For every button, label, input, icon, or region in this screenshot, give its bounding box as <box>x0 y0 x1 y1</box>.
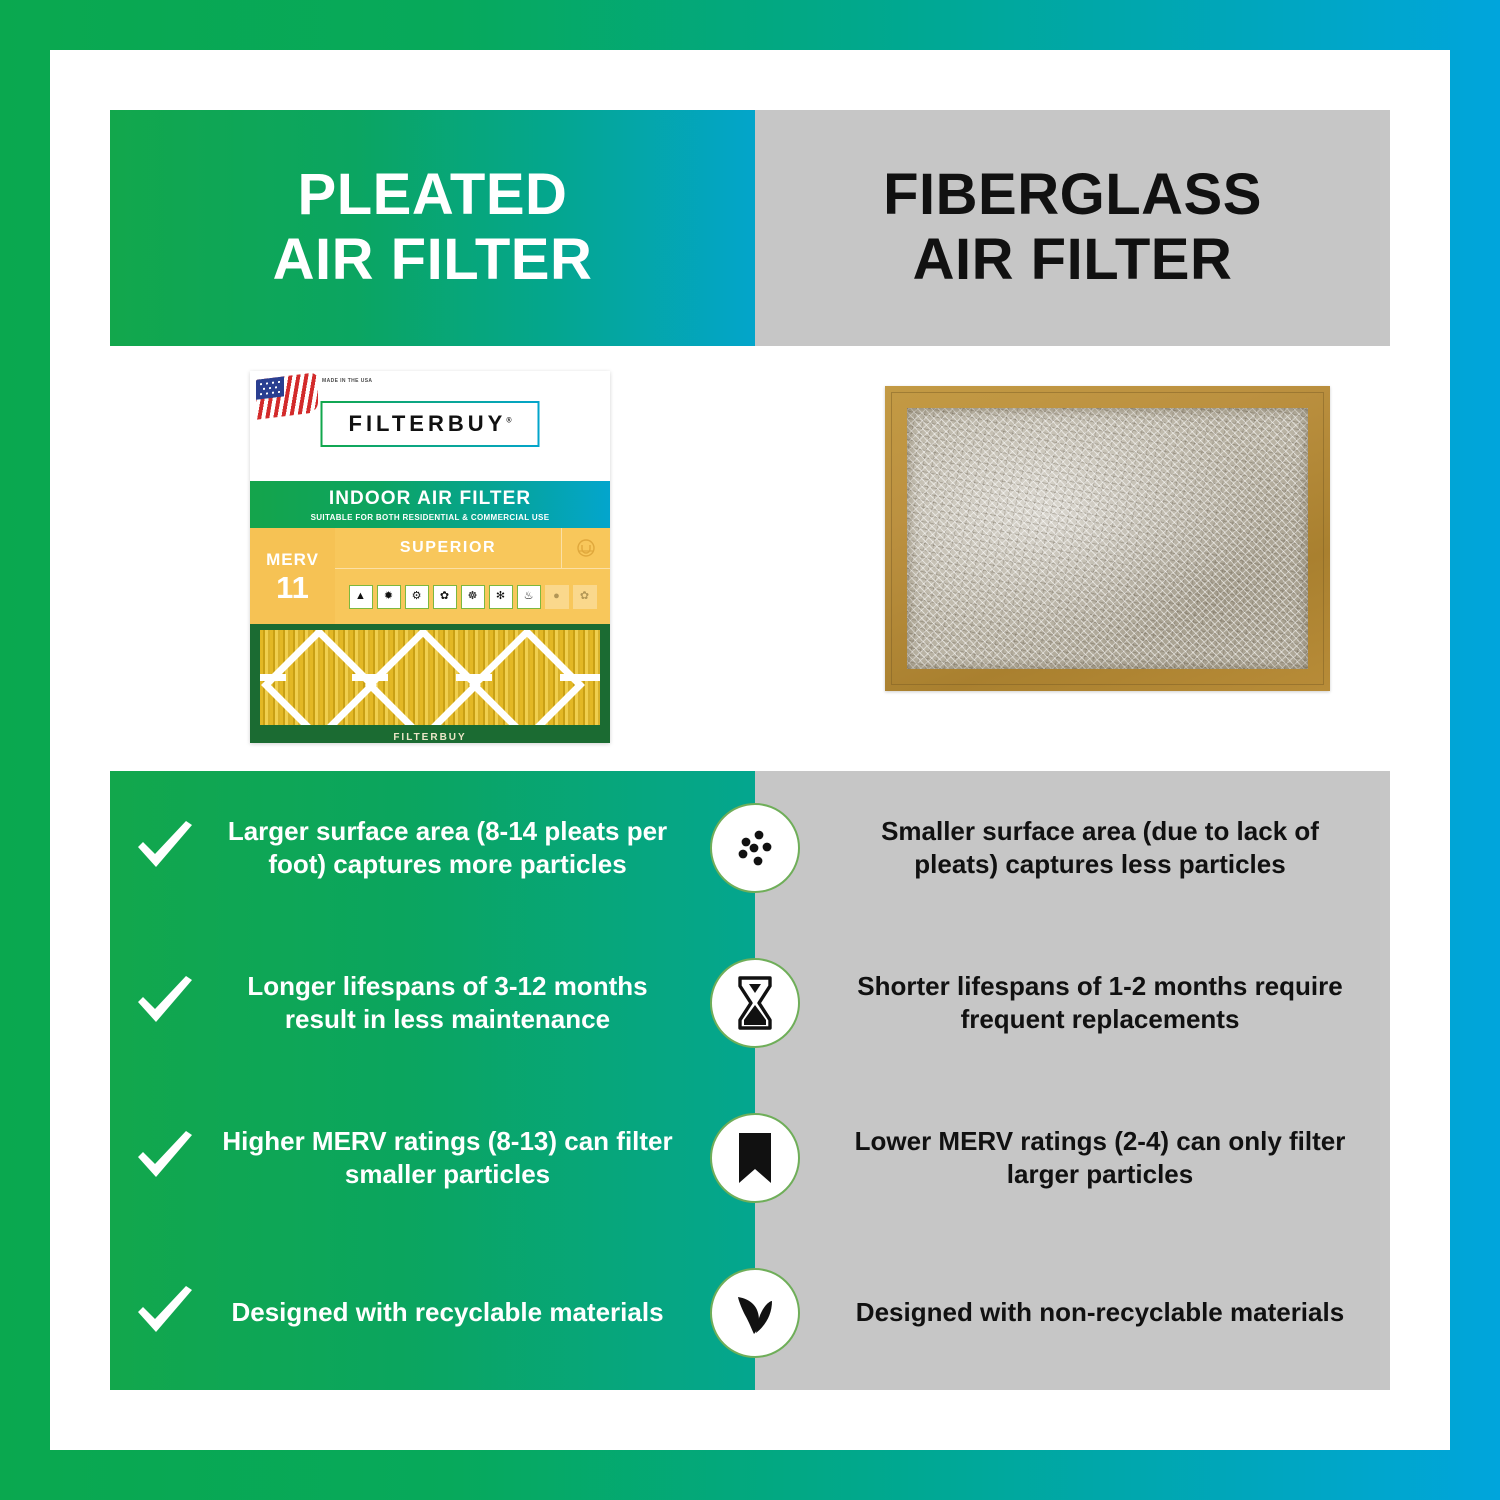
row-left-pleated: Higher MERV ratings (8-13) can filter sm… <box>110 1081 755 1236</box>
ul-certification-icon <box>561 528 610 568</box>
row-left-pleated: Longer lifespans of 3-12 months result i… <box>110 926 755 1081</box>
row-left-pleated: Designed with recyclable materials <box>110 1235 755 1390</box>
dust-icon: ▲ <box>349 585 373 609</box>
comparison-header: PLEATED AIR FILTER FIBERGLASS AIR FILTER <box>110 110 1390 346</box>
header-fiberglass-line2: AIR FILTER <box>883 228 1262 293</box>
merv-rating-cell: MERV 11 <box>250 528 335 624</box>
lattice-bar <box>456 674 492 681</box>
row-right-fiberglass: Lower MERV ratings (2-4) can only filter… <box>755 1081 1390 1236</box>
poster-inner: PLEATED AIR FILTER FIBERGLASS AIR FILTER… <box>110 110 1390 1390</box>
usa-flag-icon <box>256 372 318 420</box>
pleated-filter-product-image: MADE IN THE USA FILTERBUY® INDOOR AIR FI… <box>250 371 610 743</box>
lattice-bar <box>352 674 388 681</box>
row-right-fiberglass: Shorter lifespans of 1-2 months require … <box>755 926 1390 1081</box>
comparison-row: Higher MERV ratings (8-13) can filter sm… <box>110 1081 1390 1236</box>
band-main-label: INDOOR AIR FILTER <box>329 488 531 510</box>
poster-frame: PLEATED AIR FILTER FIBERGLASS AIR FILTER… <box>50 50 1450 1450</box>
virus-icon-disabled: ● <box>545 585 569 609</box>
row-left-text: Larger surface area (8-14 pleats per foo… <box>220 815 755 882</box>
header-pleated: PLEATED AIR FILTER <box>110 110 755 346</box>
comparison-row: Longer lifespans of 3-12 months result i… <box>110 926 1390 1081</box>
smoke-icon: ♨ <box>517 585 541 609</box>
row-left-text: Higher MERV ratings (8-13) can filter sm… <box>220 1125 755 1192</box>
pleated-media-section: FILTERBUY <box>250 624 610 743</box>
merv-detail-col: SUPERIOR ▲ <box>335 528 610 624</box>
checkmark-icon <box>110 1286 220 1340</box>
row-right-fiberglass: Smaller surface area (due to lack of ple… <box>755 771 1390 926</box>
comparison-row: Designed with recyclable materials Desig… <box>110 1235 1390 1390</box>
header-pleated-line2: AIR FILTER <box>273 228 593 293</box>
fiberglass-filter-frame <box>885 386 1330 691</box>
mold-icon: ✿ <box>433 585 457 609</box>
header-fiberglass-title: FIBERGLASS AIR FILTER <box>883 163 1262 293</box>
odor-icon-disabled: ✿ <box>573 585 597 609</box>
feature-badges: ▲ ✹ ⚙ ✿ ☸ ✻ ♨ ● ✿ <box>335 569 610 624</box>
row-left-pleated: Larger surface area (8-14 pleats per foo… <box>110 771 755 926</box>
filterbuy-logo-text: FILTERBUY® <box>349 411 512 437</box>
filterbuy-logo: FILTERBUY® <box>321 401 540 447</box>
hourglass-icon <box>710 958 800 1048</box>
header-pleated-title: PLEATED AIR FILTER <box>273 163 593 293</box>
support-lattice <box>260 630 600 725</box>
product-images-row: MADE IN THE USA FILTERBUY® INDOOR AIR FI… <box>110 346 1390 771</box>
filterbuy-box: MADE IN THE USA FILTERBUY® INDOOR AIR FI… <box>250 371 610 743</box>
header-fiberglass: FIBERGLASS AIR FILTER <box>755 110 1390 346</box>
row-right-fiberglass: Designed with non-recyclable materials <box>755 1235 1390 1390</box>
merv-section: MERV 11 SUPERIOR <box>250 528 610 624</box>
box-top-section: MADE IN THE USA FILTERBUY® <box>250 371 610 481</box>
checkmark-icon <box>110 976 220 1030</box>
tier-row: SUPERIOR <box>335 528 610 569</box>
row-right-text: Smaller surface area (due to lack of ple… <box>755 815 1390 882</box>
row-right-text: Lower MERV ratings (2-4) can only filter… <box>755 1125 1390 1192</box>
made-in-usa-label: MADE IN THE USA <box>322 378 372 384</box>
indoor-air-filter-band: INDOOR AIR FILTER SUITABLE FOR BOTH RESI… <box>250 481 610 528</box>
leaf-icon <box>710 1268 800 1358</box>
fiberglass-mesh <box>907 408 1308 669</box>
tier-label: SUPERIOR <box>335 539 561 557</box>
box-footer-brand: FILTERBUY <box>260 725 600 743</box>
bookmark-icon <box>710 1113 800 1203</box>
merv-value: 11 <box>276 572 309 603</box>
band-sub-label: SUITABLE FOR BOTH RESIDENTIAL & COMMERCI… <box>311 513 550 522</box>
row-right-text: Shorter lifespans of 1-2 months require … <box>755 970 1390 1037</box>
lattice-bar <box>260 674 286 681</box>
comparison-row: Larger surface area (8-14 pleats per foo… <box>110 771 1390 926</box>
bacteria-icon: ☸ <box>461 585 485 609</box>
pleated-media <box>260 630 600 725</box>
row-left-text: Designed with recyclable materials <box>220 1296 755 1329</box>
fiberglass-filter-product-image <box>885 386 1330 691</box>
row-left-text: Longer lifespans of 3-12 months result i… <box>220 970 755 1037</box>
merv-label: MERV <box>266 550 319 570</box>
row-right-text: Designed with non-recyclable materials <box>755 1296 1390 1329</box>
lattice-bar <box>560 674 600 681</box>
checkmark-icon <box>110 1131 220 1185</box>
particles-icon <box>710 803 800 893</box>
comparison-rows: Larger surface area (8-14 pleats per foo… <box>110 771 1390 1390</box>
mite-icon: ✹ <box>377 585 401 609</box>
pollen-icon: ⚙ <box>405 585 429 609</box>
checkmark-icon <box>110 821 220 875</box>
header-fiberglass-line1: FIBERGLASS <box>883 163 1262 228</box>
pet-dander-icon: ✻ <box>489 585 513 609</box>
header-pleated-line1: PLEATED <box>273 163 593 228</box>
